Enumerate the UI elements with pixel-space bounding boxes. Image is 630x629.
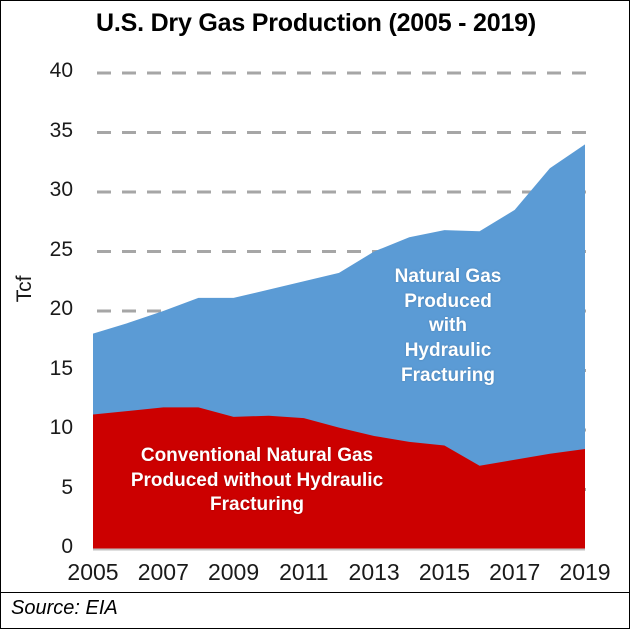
- x-tick-label: 2005: [67, 559, 118, 586]
- y-tick-label: 30: [27, 178, 73, 202]
- chart-frame: U.S. Dry Gas Production (2005 - 2019) Tc…: [0, 0, 630, 629]
- area-chart-plot: [1, 1, 630, 629]
- y-tick-label: 35: [27, 119, 73, 143]
- x-tick-label: 2019: [559, 559, 610, 586]
- x-tick-label: 2007: [138, 559, 189, 586]
- x-tick-label: 2009: [208, 559, 259, 586]
- y-tick-label: 25: [27, 238, 73, 262]
- x-tick-label: 2017: [489, 559, 540, 586]
- x-tick-label: 2011: [279, 559, 328, 586]
- footer-divider: [1, 592, 630, 593]
- y-tick-label: 0: [27, 535, 73, 559]
- x-tick-label: 2015: [419, 559, 470, 586]
- source-note: Source: EIA: [11, 597, 118, 620]
- x-tick-label: 2013: [349, 559, 400, 586]
- y-tick-label: 15: [27, 357, 73, 381]
- y-tick-label: 20: [27, 297, 73, 321]
- y-tick-label: 10: [27, 416, 73, 440]
- y-tick-label: 5: [27, 476, 73, 500]
- y-tick-label: 40: [27, 59, 73, 83]
